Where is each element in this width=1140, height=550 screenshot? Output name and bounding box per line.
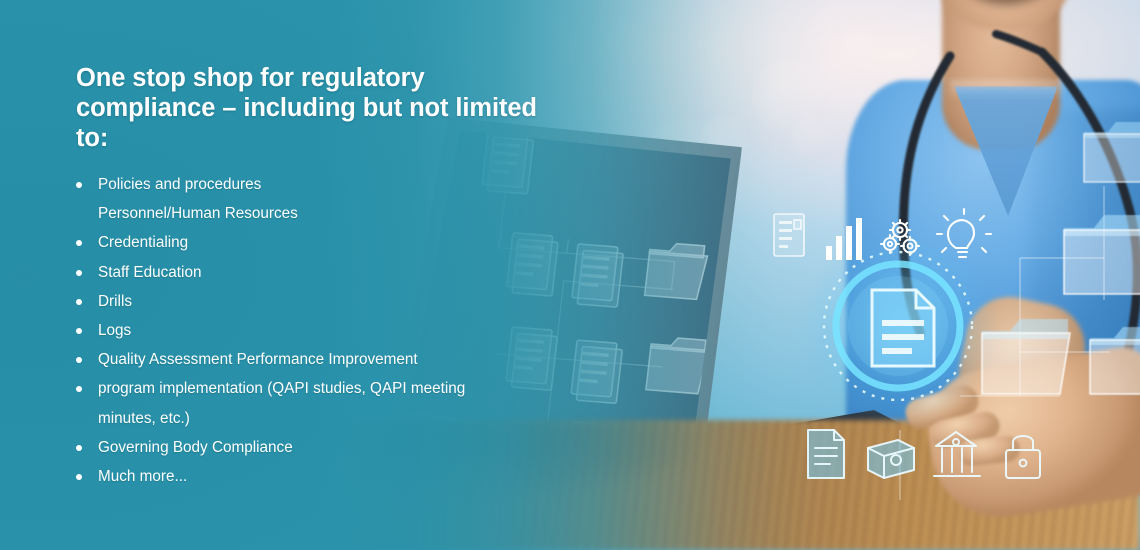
list-item: Drills	[72, 287, 572, 316]
list-item-continuation: minutes, etc.)	[72, 404, 572, 433]
list-item: Logs	[72, 316, 572, 345]
page-title: One stop shop for regulatory compliance …	[76, 63, 546, 153]
list-item: Quality Assessment Performance Improveme…	[72, 345, 572, 374]
list-item: Credentialing	[72, 228, 572, 257]
list-item: program implementation (QAPI studies, QA…	[72, 374, 572, 403]
compliance-list: Policies and proceduresPersonnel/Human R…	[72, 170, 572, 491]
list-item: Policies and procedures	[72, 170, 572, 199]
banner-content: One stop shop for regulatory compliance …	[0, 0, 600, 550]
list-item: Governing Body Compliance	[72, 433, 572, 462]
list-item: Staff Education	[72, 258, 572, 287]
marketing-banner: One stop shop for regulatory compliance …	[0, 0, 1140, 550]
list-item-continuation: Personnel/Human Resources	[72, 199, 572, 228]
list-item: Much more...	[72, 462, 572, 491]
